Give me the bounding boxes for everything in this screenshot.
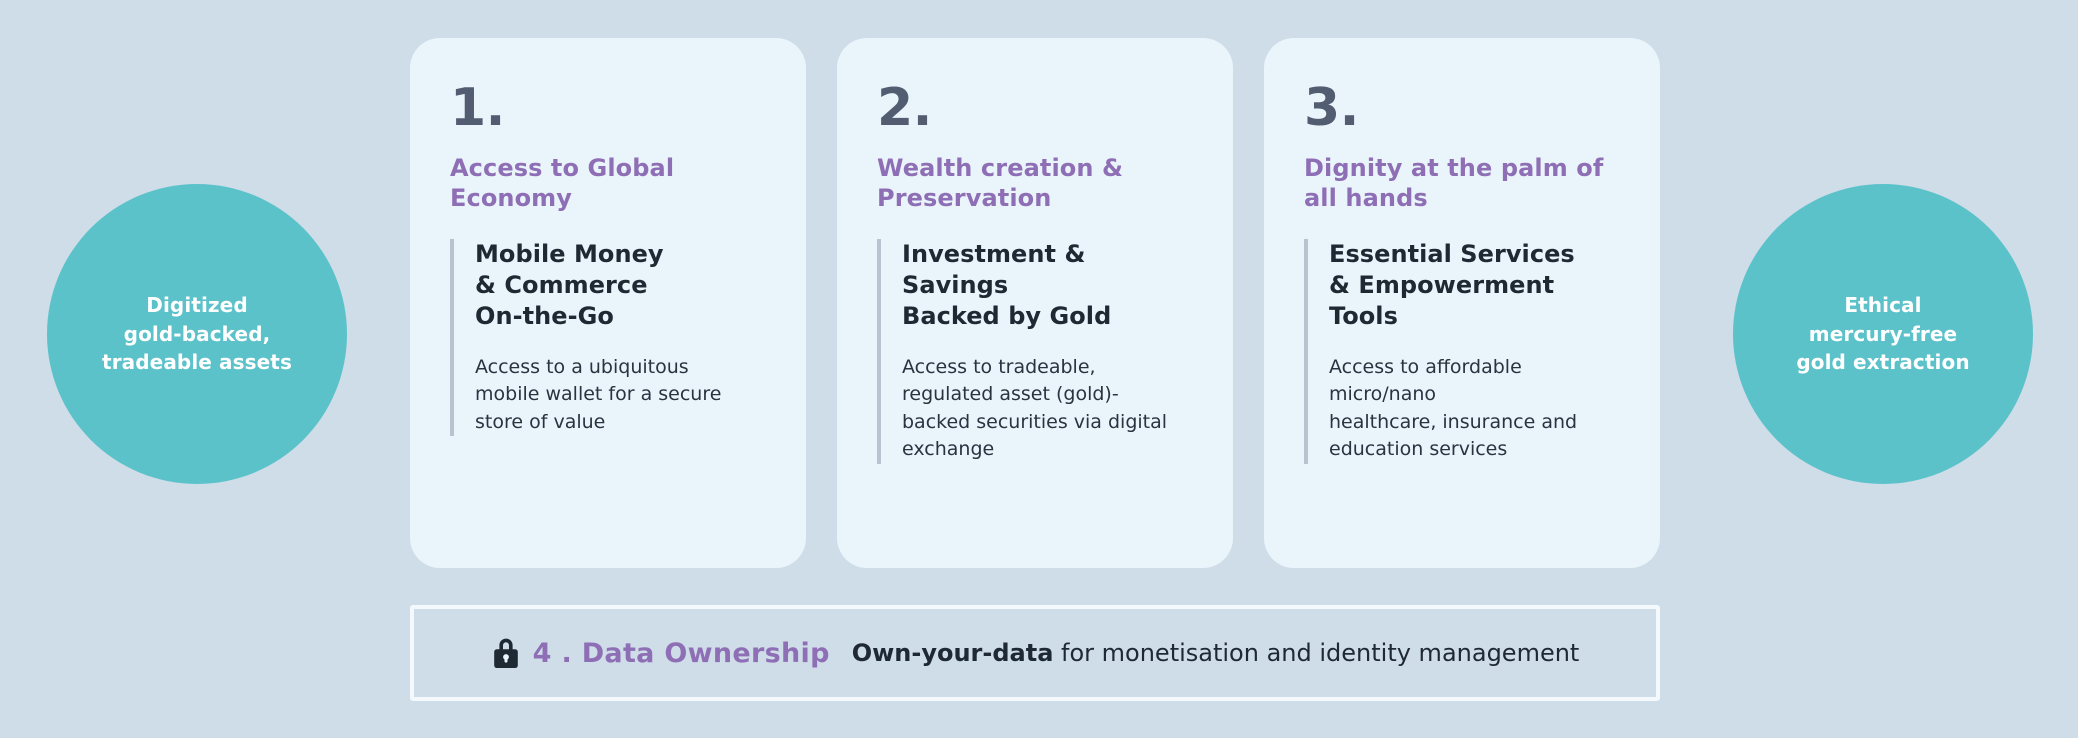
card-body-desc-3: Access to affordable micro/nano healthca… — [1329, 354, 1620, 464]
pillar-card-2: 2. Wealth creation & Preservation Invest… — [837, 38, 1233, 568]
left-circle-label: Digitized gold-backed, tradeable assets — [88, 291, 306, 376]
card-body-title-1: Mobile Money & Commerce On-the-Go — [475, 239, 766, 331]
pillar-card-3: 3. Dignity at the palm of all hands Esse… — [1264, 38, 1660, 568]
card-heading-3: Dignity at the palm of all hands — [1304, 153, 1620, 213]
pillar-card-1: 1. Access to Global Economy Mobile Money… — [410, 38, 806, 568]
card-body-2: Investment & Savings Backed by Gold Acce… — [877, 239, 1193, 463]
right-circle-badge: Ethical mercury-free gold extraction — [1733, 184, 2033, 484]
card-body-1: Mobile Money & Commerce On-the-Go Access… — [450, 239, 766, 436]
lock-icon — [491, 636, 521, 670]
card-body-desc-1: Access to a ubiquitous mobile wallet for… — [475, 354, 766, 437]
pillar-cards-row: 1. Access to Global Economy Mobile Money… — [410, 38, 1660, 568]
card-number-3: 3. — [1304, 84, 1620, 133]
strip-rest-text: for monetisation and identity management — [1053, 639, 1579, 667]
card-heading-1: Access to Global Economy — [450, 153, 766, 213]
card-heading-2: Wealth creation & Preservation — [877, 153, 1193, 213]
card-body-title-2: Investment & Savings Backed by Gold — [902, 239, 1193, 331]
left-circle-badge: Digitized gold-backed, tradeable assets — [47, 184, 347, 484]
card-body-title-3: Essential Services & Empowerment Tools — [1329, 239, 1620, 331]
card-number-2: 2. — [877, 84, 1193, 133]
data-ownership-strip: 4 . Data Ownership Own-your-data for mon… — [410, 605, 1660, 701]
strip-emphasis: Own-your-data — [852, 639, 1054, 667]
strip-number-label: 4 . Data Ownership — [533, 638, 830, 669]
card-body-3: Essential Services & Empowerment Tools A… — [1304, 239, 1620, 463]
strip-description: Own-your-data for monetisation and ident… — [852, 639, 1580, 667]
card-number-1: 1. — [450, 84, 766, 133]
right-circle-label: Ethical mercury-free gold extraction — [1782, 291, 1983, 376]
card-body-desc-2: Access to tradeable, regulated asset (go… — [902, 354, 1193, 464]
